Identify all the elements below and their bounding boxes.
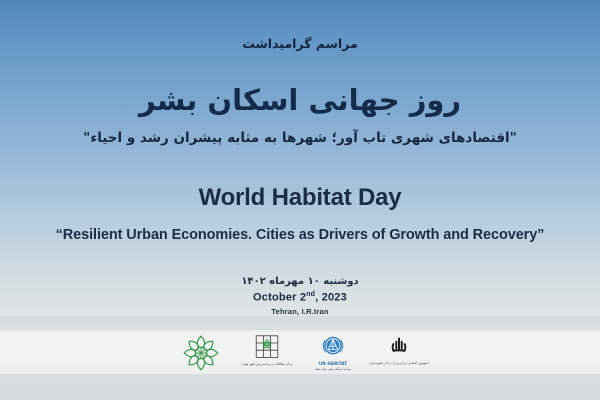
logo-tehran-municipality <box>177 334 225 374</box>
tehran-urban-planning-grid-icon <box>252 334 282 361</box>
kicker-persian: مراسم گرامیداشت <box>0 36 600 52</box>
tehran-municipality-rosette-icon <box>182 334 220 372</box>
iran-national-emblem-icon <box>386 334 412 360</box>
logo-un-habitat: UN-HABITAT برنامه اسکان بشر ملل متحد <box>309 334 357 374</box>
title-english: World Habitat Day <box>0 183 600 213</box>
logo-caption-islamic-republic-of-iran: جمهوری اسلامی ایران وزارت راه و شهرسازی <box>369 361 429 366</box>
subtitle-persian: "اقتصادهای شهری تاب آور؛ شهرها به مثابه … <box>0 130 600 147</box>
logo-caption-tehran-urban-research: مرکز مطالعات و برنامه‌ریزی شهر تهران <box>241 362 292 367</box>
logo-islamic-republic-of-iran: جمهوری اسلامی ایران وزارت راه و شهرسازی <box>375 334 423 374</box>
date-english-ordinal: nd <box>306 291 315 298</box>
date-persian: دوشنبه ۱۰ مهرماه ۱۴۰۲ <box>0 276 600 289</box>
subtitle-english: “Resilient Urban Economies. Cities as Dr… <box>0 226 600 244</box>
poster-content: مراسم گرامیداشت روز جهانی اسکان بشر "اقت… <box>0 0 600 400</box>
poster-canvas: مراسم گرامیداشت روز جهانی اسکان بشر "اقت… <box>0 0 600 400</box>
location-english: Tehran, I.R.Iran <box>0 307 600 316</box>
logo-caption-un-habitat-persian: برنامه اسکان بشر ملل متحد <box>315 367 352 372</box>
un-habitat-icon <box>319 334 347 360</box>
title-persian: روز جهانی اسکان بشر <box>0 82 600 118</box>
date-english: October 2nd, 2023 <box>0 291 600 305</box>
date-english-main: October 2 <box>253 292 306 304</box>
date-english-year: , 2023 <box>315 292 347 304</box>
logo-row: مرکز مطالعات و برنامه‌ریزی شهر تهران <box>0 334 600 374</box>
logo-tehran-urban-research: مرکز مطالعات و برنامه‌ریزی شهر تهران <box>243 334 291 374</box>
